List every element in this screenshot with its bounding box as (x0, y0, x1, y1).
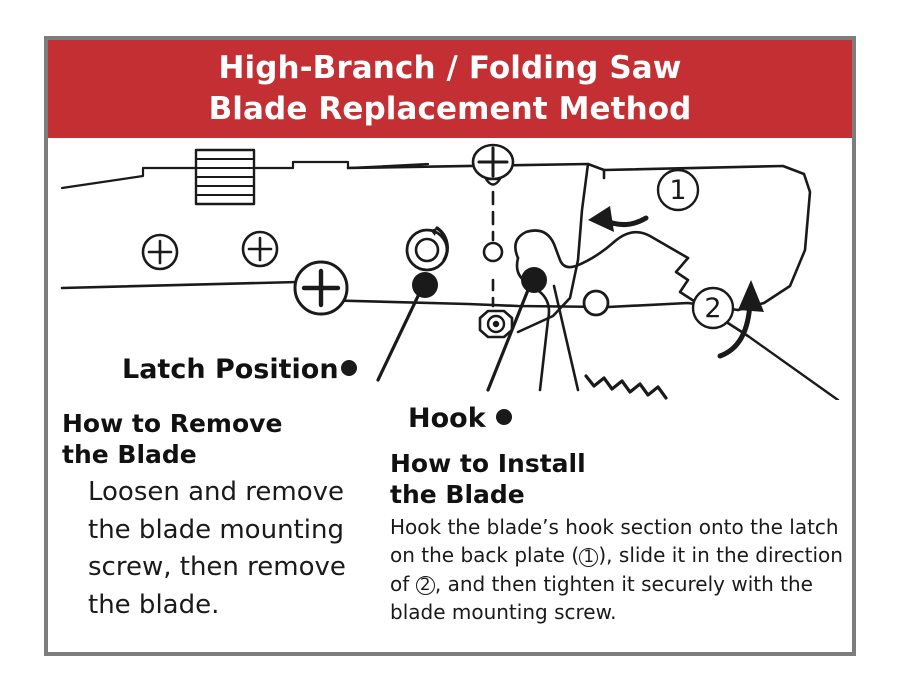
remove-heading: How to Remove the Blade (62, 408, 382, 470)
how-to-install-section: How to Install the Blade Hook the blade’… (390, 448, 850, 627)
inline-step-marker-1: 1 (579, 548, 598, 567)
latch-callout-dot (341, 360, 357, 376)
top-phillips-screw (473, 145, 513, 185)
saw-blade-teeth (586, 336, 838, 400)
install-body-text: Hook the blade’s hook section onto the l… (390, 513, 850, 627)
instruction-poster: High-Branch / Folding Saw Blade Replacem… (0, 0, 901, 700)
how-to-remove-section: How to Remove the Blade Loosen and remov… (62, 408, 382, 625)
hook-dot (521, 267, 547, 293)
hex-nut (480, 311, 512, 337)
install-heading: How to Install the Blade (390, 448, 850, 510)
hook-callout: Hook (408, 405, 512, 432)
title-line-1: High-Branch / Folding Saw (218, 48, 681, 89)
pivot-washer (407, 228, 447, 270)
install-heading-line-2: the Blade (390, 479, 850, 510)
install-heading-line-1: How to Install (390, 448, 850, 479)
latch-leader-line (378, 294, 419, 380)
install-body-part-3: , and then tighten it securely with the … (390, 572, 813, 624)
remove-heading-line-1: How to Remove (62, 408, 382, 439)
step-marker-1: 1 (658, 170, 698, 210)
step-marker-2: 2 (693, 288, 733, 328)
svg-text:2: 2 (704, 293, 721, 324)
axis-hole (484, 243, 502, 261)
title-banner: High-Branch / Folding Saw Blade Replacem… (48, 40, 852, 138)
knurled-grip (196, 150, 254, 204)
inline-step-marker-2: 2 (416, 576, 435, 595)
phillips-screw-small-left (143, 235, 177, 269)
hook-callout-dot (496, 409, 512, 425)
remove-body-text: Loosen and remove the blade mounting scr… (62, 474, 382, 625)
svg-text:1: 1 (669, 175, 686, 206)
phillips-screw-small-mid (243, 232, 277, 266)
title-line-2: Blade Replacement Method (209, 89, 692, 130)
latch-dot (412, 272, 438, 298)
step-arrow-1 (588, 206, 646, 232)
blade-pivot-hole (584, 291, 608, 315)
latch-position-callout: Latch Position (122, 356, 357, 383)
latch-position-label: Latch Position (122, 354, 339, 385)
hook-label: Hook (408, 403, 486, 434)
blade-mounting-screw (295, 262, 347, 314)
remove-heading-line-2: the Blade (62, 439, 382, 470)
